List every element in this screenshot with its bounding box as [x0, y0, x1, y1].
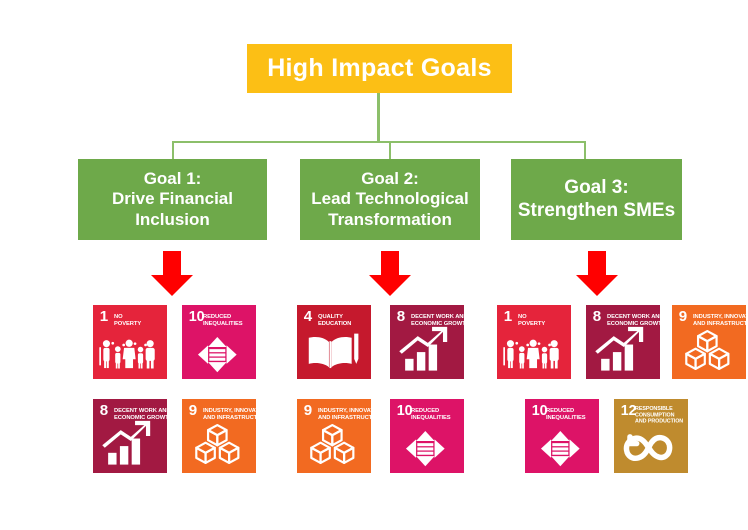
svg-text:1: 1	[100, 308, 108, 325]
svg-text:ECONOMIC GROWTH: ECONOMIC GROWTH	[114, 415, 167, 421]
svg-text:DECENT WORK AND: DECENT WORK AND	[114, 408, 167, 414]
sdg-tile-9[interactable]: 9 INDUSTRY, INNOVATIONAND INFRASTRUCTURE	[297, 399, 371, 473]
arrow-down-goal-2	[368, 251, 412, 297]
svg-text:POVERTY: POVERTY	[114, 321, 141, 327]
svg-text:REDUCED: REDUCED	[546, 408, 574, 414]
sdg-tile-10[interactable]: 10 REDUCEDINEQUALITIES	[390, 399, 464, 473]
svg-text:INEQUALITIES: INEQUALITIES	[411, 415, 451, 421]
connector-drop-goal-2	[389, 141, 391, 159]
svg-text:8: 8	[100, 402, 108, 419]
svg-text:INDUSTRY, INNOVATION: INDUSTRY, INNOVATION	[203, 408, 256, 414]
goal-box-1[interactable]: Goal 1: Drive Financial Inclusion	[78, 159, 267, 240]
svg-text:8: 8	[593, 308, 601, 325]
goal-1-line-2: Inclusion	[135, 210, 210, 230]
goal-2-heading: Goal 2:	[361, 169, 419, 189]
goal-box-2[interactable]: Goal 2: Lead Technological Transformatio…	[300, 159, 480, 240]
goal-3-heading: Goal 3:	[564, 177, 628, 199]
svg-text:AND PRODUCTION: AND PRODUCTION	[635, 419, 683, 425]
arrow-down-goal-3	[575, 251, 619, 297]
svg-text:9: 9	[304, 402, 312, 419]
sdg-tile-10[interactable]: 10 REDUCEDINEQUALITIES	[525, 399, 599, 473]
svg-text:QUALITY: QUALITY	[318, 314, 343, 320]
svg-text:RESPONSIBLE: RESPONSIBLE	[635, 406, 673, 412]
sdg-tile-8[interactable]: 8 DECENT WORK ANDECONOMIC GROWTH	[586, 305, 660, 379]
svg-text:INDUSTRY, INNOVATION: INDUSTRY, INNOVATION	[318, 408, 371, 414]
connector-drop-goal-1	[172, 141, 174, 159]
svg-text:CONSUMPTION: CONSUMPTION	[635, 412, 675, 418]
goal-1-line-1: Drive Financial	[112, 189, 233, 209]
svg-text:ECONOMIC GROWTH: ECONOMIC GROWTH	[607, 321, 660, 327]
goal-box-3[interactable]: Goal 3: Strengthen SMEs	[511, 159, 682, 240]
sdg-tile-1[interactable]: 1 NOPOVERTY	[497, 305, 571, 379]
svg-text:8: 8	[397, 308, 405, 325]
svg-text:1: 1	[504, 308, 512, 325]
sdg-tile-8[interactable]: 8 DECENT WORK ANDECONOMIC GROWTH	[93, 399, 167, 473]
svg-text:NO: NO	[518, 314, 527, 320]
connector-trunk-vertical	[377, 93, 380, 143]
sdg-tile-9[interactable]: 9 INDUSTRY, INNOVATIONAND INFRASTRUCTURE	[182, 399, 256, 473]
svg-text:DECENT WORK AND: DECENT WORK AND	[607, 314, 660, 320]
svg-text:INDUSTRY, INNOVATION: INDUSTRY, INNOVATION	[693, 314, 746, 320]
svg-text:AND INFRASTRUCTURE: AND INFRASTRUCTURE	[693, 321, 746, 327]
svg-text:EDUCATION: EDUCATION	[318, 321, 351, 327]
goal-1-heading: Goal 1:	[144, 169, 202, 189]
svg-text:9: 9	[189, 402, 197, 419]
svg-text:AND INFRASTRUCTURE: AND INFRASTRUCTURE	[203, 415, 256, 421]
goal-2-line-1: Lead Technological	[311, 189, 468, 209]
svg-text:4: 4	[304, 308, 313, 325]
sdg-tile-1[interactable]: 1 NOPOVERTY	[93, 305, 167, 379]
svg-text:REDUCED: REDUCED	[203, 314, 231, 320]
connector-drop-goal-3	[584, 141, 586, 159]
svg-text:INEQUALITIES: INEQUALITIES	[546, 415, 586, 421]
svg-text:9: 9	[679, 308, 687, 325]
svg-text:REDUCED: REDUCED	[411, 408, 439, 414]
sdg-tile-4[interactable]: 4 QUALITYEDUCATION	[297, 305, 371, 379]
goal-2-line-2: Transformation	[328, 210, 452, 230]
svg-text:POVERTY: POVERTY	[518, 321, 545, 327]
svg-text:AND INFRASTRUCTURE: AND INFRASTRUCTURE	[318, 415, 371, 421]
goal-3-line-1: Strengthen SMEs	[518, 200, 675, 222]
sdg-tile-9[interactable]: 9 INDUSTRY, INNOVATIONAND INFRASTRUCTURE	[672, 305, 746, 379]
page-title: High Impact Goals	[247, 44, 512, 93]
sdg-tile-8[interactable]: 8 DECENT WORK ANDECONOMIC GROWTH	[390, 305, 464, 379]
sdg-tile-12[interactable]: 12 RESPONSIBLECONSUMPTIONAND PRODUCTION	[614, 399, 688, 473]
connector-horizontal-bar	[172, 141, 586, 143]
svg-text:ECONOMIC GROWTH: ECONOMIC GROWTH	[411, 321, 464, 327]
arrow-down-goal-1	[150, 251, 194, 297]
diagram-canvas: High Impact Goals Goal 1: Drive Financia…	[0, 0, 748, 530]
svg-text:NO: NO	[114, 314, 123, 320]
sdg-tile-10[interactable]: 10 REDUCEDINEQUALITIES	[182, 305, 256, 379]
svg-text:INEQUALITIES: INEQUALITIES	[203, 321, 243, 327]
page-title-label: High Impact Goals	[267, 54, 492, 83]
svg-text:DECENT WORK AND: DECENT WORK AND	[411, 314, 464, 320]
